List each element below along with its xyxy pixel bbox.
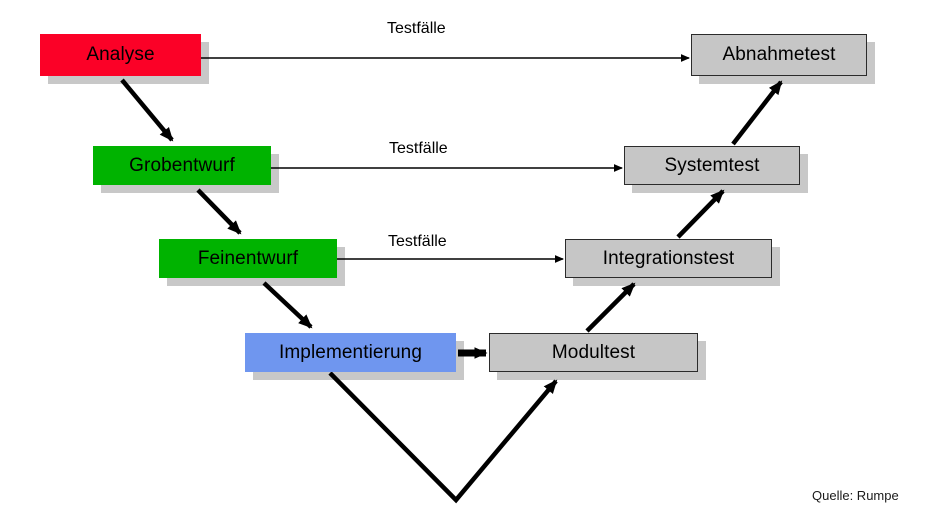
- node-analyse[interactable]: Analyse: [40, 34, 201, 76]
- node-systemtest[interactable]: Systemtest: [624, 146, 800, 185]
- node-integrationstest[interactable]: Integrationstest: [565, 239, 772, 278]
- edge-systemtest-to-abnahmetest: [733, 82, 781, 144]
- node-grobentwurf-label: Grobentwurf: [129, 156, 235, 176]
- node-implementierung-label: Implementierung: [279, 343, 422, 363]
- node-grobentwurf[interactable]: Grobentwurf: [93, 146, 271, 185]
- edge-integrationstest-to-systemtest: [678, 191, 723, 237]
- edge-label-testfaelle-2: Testfälle: [389, 141, 448, 157]
- source-note: Quelle: Rumpe: [812, 489, 899, 502]
- edge-label-testfaelle-1: Testfälle: [387, 21, 446, 37]
- edge-feinentwurf-to-implementierung: [264, 283, 311, 327]
- edge-label-testfaelle-3: Testfälle: [388, 234, 447, 250]
- node-systemtest-label: Systemtest: [665, 156, 760, 176]
- edge-v-bottom-implementierung-to-modultest: [330, 373, 556, 500]
- node-feinentwurf-label: Feinentwurf: [198, 249, 298, 269]
- node-feinentwurf[interactable]: Feinentwurf: [159, 239, 337, 278]
- node-integrationstest-label: Integrationstest: [603, 249, 735, 269]
- node-abnahmetest[interactable]: Abnahmetest: [691, 34, 867, 76]
- v-model-diagram: Analyse Grobentwurf Feinentwurf Implemen…: [0, 0, 951, 517]
- edge-grobentwurf-to-feinentwurf: [198, 190, 240, 233]
- node-modultest-label: Modultest: [552, 343, 635, 363]
- edge-analyse-to-grobentwurf: [122, 80, 172, 140]
- node-implementierung[interactable]: Implementierung: [245, 333, 456, 372]
- edge-modultest-to-integrationstest: [587, 284, 634, 331]
- node-modultest[interactable]: Modultest: [489, 333, 698, 372]
- node-analyse-label: Analyse: [86, 45, 154, 65]
- node-abnahmetest-label: Abnahmetest: [722, 45, 835, 65]
